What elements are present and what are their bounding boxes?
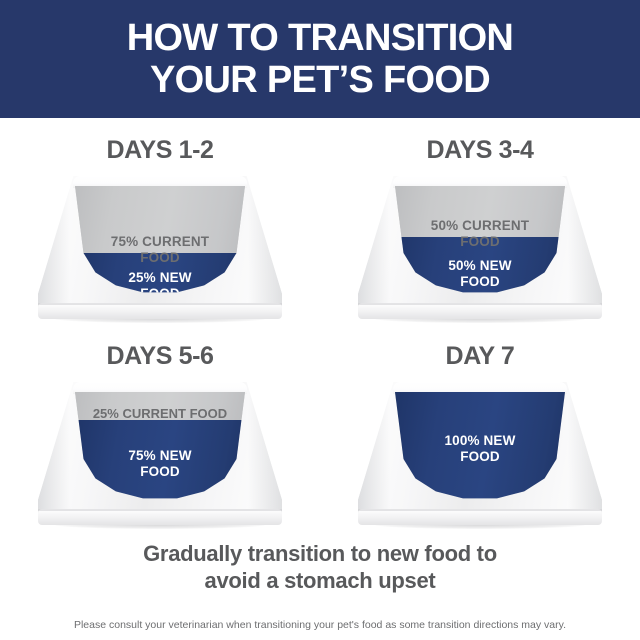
header-title-line-2: YOUR PET’S FOOD — [150, 59, 490, 101]
pet-food-bowl: 100% NEW FOOD — [358, 382, 602, 530]
new-food-label: 100% NEW FOOD — [395, 433, 565, 465]
footer-headline-line-1: Gradually transition to new food to — [143, 540, 497, 567]
step-title: DAYS 1-2 — [106, 136, 213, 164]
bowl-base — [38, 303, 282, 319]
bowl-base — [358, 509, 602, 525]
step-panel-days-3-4: DAYS 3-4 50% CURRENT FOOD 50% NEW FOOD — [320, 126, 640, 332]
current-food-label: 75% CURRENT FOOD — [75, 234, 245, 266]
pet-food-bowl: 75% CURRENT FOOD 25% NEW FOOD — [38, 176, 282, 324]
step-title: DAY 7 — [446, 342, 515, 370]
bowl-base — [38, 509, 282, 525]
new-food-label: 75% NEW FOOD — [75, 448, 245, 480]
step-title: DAYS 5-6 — [106, 342, 213, 370]
current-food-label: 50% CURRENT FOOD — [395, 218, 565, 250]
header-title-line-1: HOW TO TRANSITION — [127, 17, 513, 59]
bowl-base — [358, 303, 602, 319]
current-food-label: 25% CURRENT FOOD — [75, 406, 245, 422]
infographic-page: HOW TO TRANSITION YOUR PET’S FOOD DAYS 1… — [0, 0, 640, 640]
transition-steps-grid: DAYS 1-2 75% CURRENT FOOD 25% NEW FOOD D… — [0, 126, 640, 538]
footer-headline-line-2: avoid a stomach upset — [205, 567, 436, 594]
footer: Gradually transition to new food to avoi… — [0, 540, 640, 632]
pet-food-bowl: 25% CURRENT FOOD 75% NEW FOOD — [38, 382, 282, 530]
footer-disclaimer: Please consult your veterinarian when tr… — [74, 618, 566, 632]
step-panel-day-7: DAY 7 100% NEW FOOD — [320, 332, 640, 538]
pet-food-bowl: 50% CURRENT FOOD 50% NEW FOOD — [358, 176, 602, 324]
step-title: DAYS 3-4 — [426, 136, 533, 164]
header-banner: HOW TO TRANSITION YOUR PET’S FOOD — [0, 0, 640, 118]
step-panel-days-1-2: DAYS 1-2 75% CURRENT FOOD 25% NEW FOOD — [0, 126, 320, 332]
step-panel-days-5-6: DAYS 5-6 25% CURRENT FOOD 75% NEW FOOD — [0, 332, 320, 538]
